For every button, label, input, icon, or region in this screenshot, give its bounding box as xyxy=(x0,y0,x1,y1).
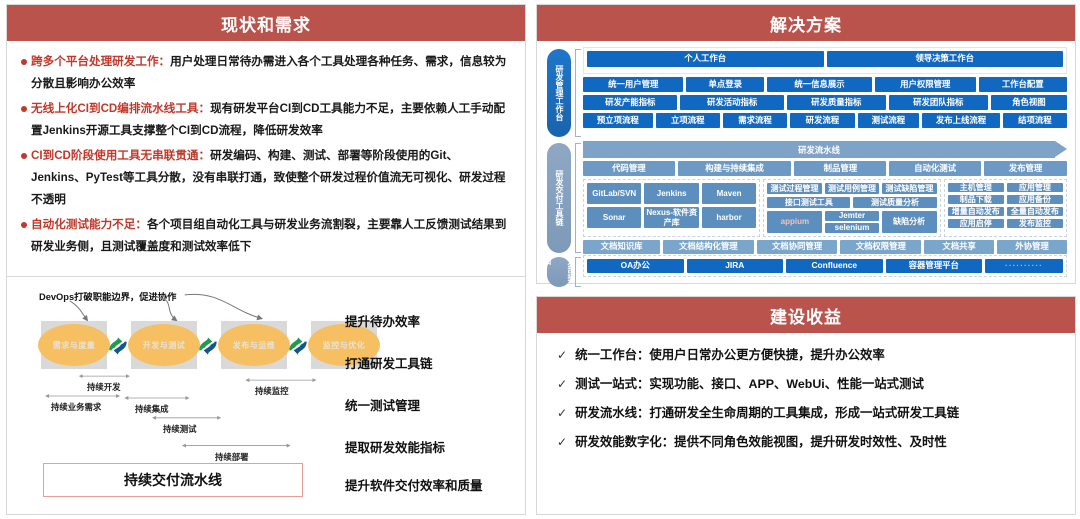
external-box: OA办公 JIRA Confluence 容器管理平台 ·········· xyxy=(583,255,1067,277)
span-label: 持续测试 xyxy=(163,423,197,435)
benefit-label: 提取研发效能指标 xyxy=(345,437,445,456)
workbench-top-box: 个人工作台 领导决策工作台 xyxy=(583,47,1067,74)
bullet-highlight: 无线上化CI到CD编排流水线工具： xyxy=(31,102,210,115)
cell-release-flow[interactable]: 发布上线流程 xyxy=(922,113,999,128)
list-item: CI到CD阶段使用工具无串联贯通：研发编码、构建、测试、部署等阶段使用的Git、… xyxy=(21,145,511,211)
benefit-label: 打通研发工具链 xyxy=(345,353,433,372)
span-label: 持续监控 xyxy=(255,385,289,397)
devops-stage: 需求与度量 xyxy=(41,321,107,369)
tool-test-process-mgmt[interactable]: 测试过程管理 xyxy=(767,183,821,194)
cell-unified-user-mgmt[interactable]: 统一用户管理 xyxy=(583,77,683,92)
cell-rd-flow[interactable]: 研发流程 xyxy=(790,113,854,128)
list-item: ✓ 统一工作台：使用户日常办公更方便快捷，提升办公效率 xyxy=(553,347,1059,363)
cell-doc-perm[interactable]: 文档权限管理 xyxy=(840,240,921,254)
tool-artifact-download[interactable]: 制品下载 xyxy=(948,195,1004,204)
cell-closing-flow[interactable]: 结项流程 xyxy=(1003,113,1067,128)
benefit-label: 统一测试管理 xyxy=(345,395,420,414)
tool-incremental-release[interactable]: 增量自动发布 xyxy=(948,207,1004,216)
table-row: 预立项流程 立项流程 需求流程 研发流程 测试流程 发布上线流程 结项流程 xyxy=(583,113,1067,128)
vtab-delivery-toolchain[interactable]: 研发交付工具链 xyxy=(547,143,571,253)
cell-release-mgmt[interactable]: 发布管理 xyxy=(984,161,1067,176)
benefit-label: 提升软件交付效率和质量 xyxy=(345,475,483,494)
bullet-dot-icon xyxy=(21,59,27,65)
list-item: 跨多个平台处理研发工作：用户处理日常待办需进入各个工具处理各种任务、需求，信息较… xyxy=(21,51,511,95)
table-row: 应用启停 发布监控 xyxy=(948,219,1063,228)
table-row: GitLab/SVN Jenkins Maven xyxy=(587,183,756,204)
cell-team-metric[interactable]: 研发团队指标 xyxy=(889,95,988,110)
bullet-text: CI到CD阶段使用工具无串联贯通：研发编码、构建、测试、部署等阶段使用的Git、… xyxy=(31,145,511,211)
cell-jira[interactable]: JIRA xyxy=(687,259,784,273)
cell-doc-collab[interactable]: 文档协同管理 xyxy=(757,240,838,254)
table-row: 代码管理 构建与持续集成 制品管理 自动化测试 发布管理 xyxy=(583,161,1067,176)
tool-zone-deploy: 主机管理 应用管理 制品下载 应用备份 增量自动发布 全量自动发布 xyxy=(944,179,1067,237)
list-item: 无线上化CI到CD编排流水线工具：现有研发平台CI到CD工具能力不足，主要依赖人… xyxy=(21,98,511,142)
cell-oa[interactable]: OA办公 xyxy=(587,259,684,273)
tool-full-release[interactable]: 全量自动发布 xyxy=(1007,207,1063,216)
span-label: 持续集成 xyxy=(135,403,169,415)
tool-zone-test: 测试过程管理 测试用例管理 测试缺陷管理 接口测试工具 测试质量分析 appiu… xyxy=(763,179,940,237)
tool-selenium[interactable]: selenium xyxy=(825,223,878,233)
cell-requirement-flow[interactable]: 需求流程 xyxy=(723,113,787,128)
bracket xyxy=(575,257,581,287)
table-row: 个人工作台 领导决策工作台 xyxy=(587,51,1063,67)
tool-maven[interactable]: Maven xyxy=(702,183,756,204)
tool-jmeter[interactable]: Jemter xyxy=(825,211,878,221)
table-row: 接口测试工具 测试质量分析 xyxy=(767,197,936,208)
cell-pre-project-flow[interactable]: 预立项流程 xyxy=(583,113,653,128)
cell-test-flow[interactable]: 测试流程 xyxy=(858,113,920,128)
benefit-item-text: 统一工作台：使用户日常办公更方便快捷，提升办公效率 xyxy=(575,347,885,363)
cell-outsource-mgmt[interactable]: 外协管理 xyxy=(997,240,1067,254)
current-state-title: 现状和需求 xyxy=(7,5,525,41)
check-icon: ✓ xyxy=(557,348,567,362)
bullet-dot-icon xyxy=(21,222,27,228)
tool-app-startstop[interactable]: 应用启停 xyxy=(948,219,1004,228)
solution-title: 解决方案 xyxy=(537,5,1075,41)
sync-icon xyxy=(105,333,131,359)
tool-app-backup[interactable]: 应用备份 xyxy=(1007,195,1063,204)
bullet-text: 自动化测试能力不足：各个项目组自动化工具与研发业务流割裂，主要靠人工反馈测试结果… xyxy=(31,214,511,258)
cell-more[interactable]: ·········· xyxy=(985,259,1063,273)
vtab-external-interface[interactable]: 外部接口 xyxy=(547,257,571,287)
cell-leader-workbench[interactable]: 领导决策工作台 xyxy=(827,51,1064,67)
check-icon: ✓ xyxy=(557,435,567,449)
cell-doc-share[interactable]: 文档共享 xyxy=(924,240,994,254)
table-row: 统一用户管理 单点登录 统一信息展示 用户权限管理 工作台配置 xyxy=(583,77,1067,92)
benefits-body: ✓ 统一工作台：使用户日常办公更方便快捷，提升办公效率 ✓ 测试一站式：实现功能… xyxy=(537,333,1075,478)
list-item: ✓ 研发流水线：打通研发全生命周期的工具集成，形成一站式研发工具链 xyxy=(553,405,1059,421)
tool-group-jmeter-selenium: Jemter selenium xyxy=(825,211,878,233)
solution-vertical-tabs: 研发管理工作台 研发交付工具链 外部接口 xyxy=(545,47,575,277)
tool-jenkins[interactable]: Jenkins xyxy=(644,183,698,204)
cell-unified-info[interactable]: 统一信息展示 xyxy=(767,77,872,92)
table-row: Sonar Nexus-软件资产库 harbor xyxy=(587,207,756,228)
check-icon: ✓ xyxy=(557,406,567,420)
table-row: 测试过程管理 测试用例管理 测试缺陷管理 xyxy=(767,183,936,194)
cell-project-flow[interactable]: 立项流程 xyxy=(656,113,720,128)
bullet-text: 跨多个平台处理研发工作：用户处理日常待办需进入各个工具处理各种任务、需求，信息较… xyxy=(31,51,511,95)
bullet-highlight: CI到CD阶段使用工具无串联贯通： xyxy=(31,149,210,162)
cell-personal-workbench[interactable]: 个人工作台 xyxy=(587,51,824,67)
list-item: 自动化测试能力不足：各个项目组自动化工具与研发业务流割裂，主要靠人工反馈测试结果… xyxy=(21,214,511,258)
tool-test-defect-mgmt[interactable]: 测试缺陷管理 xyxy=(882,183,936,194)
vtab-rd-workbench[interactable]: 研发管理工作台 xyxy=(547,49,571,137)
devops-diagram: DevOps打破职能边界，促进协作 需求与度量 开发与测试 发布与运维 xyxy=(6,276,526,515)
toolchain-group: 研发流水线 代码管理 构建与持续集成 制品管理 自动化测试 发布管理 xyxy=(583,141,1067,257)
benefit-label: 提升待办效率 xyxy=(345,311,420,330)
slide-root: 现状和需求 跨多个平台处理研发工作：用户处理日常待办需进入各个工具处理各种任务、… xyxy=(0,0,1080,519)
cell-artifact-mgmt[interactable]: 制品管理 xyxy=(794,161,886,176)
tool-gitlab-svn[interactable]: GitLab/SVN xyxy=(587,183,641,204)
cell-role-view[interactable]: 角色视图 xyxy=(991,95,1067,110)
cell-doc-structure[interactable]: 文档结构化管理 xyxy=(663,240,753,254)
benefit-item-text: 研发效能数字化：提供不同角色效能视图，提升研发时效性、及时性 xyxy=(575,434,947,450)
tool-nexus[interactable]: Nexus-软件资产库 xyxy=(644,207,698,228)
bullet-highlight: 跨多个平台处理研发工作： xyxy=(31,55,170,68)
tool-release-monitor[interactable]: 发布监控 xyxy=(1007,219,1063,228)
tool-api-test[interactable]: 接口测试工具 xyxy=(767,197,850,208)
cell-workbench-config[interactable]: 工作台配置 xyxy=(979,77,1068,92)
tool-appium[interactable]: appium xyxy=(767,211,822,233)
cell-code-mgmt[interactable]: 代码管理 xyxy=(583,161,675,176)
table-row: appium Jemter selenium 缺陷分析 xyxy=(767,211,936,233)
span-label: 持续开发 xyxy=(87,381,121,393)
benefits-panel: 建设收益 ✓ 统一工作台：使用户日常办公更方便快捷，提升办公效率 ✓ 测试一站式… xyxy=(536,296,1076,515)
bullet-dot-icon xyxy=(21,153,27,159)
benefit-item-text: 研发流水线：打通研发全生命周期的工具集成，形成一站式研发工具链 xyxy=(575,405,959,421)
span-label: 持续部署 xyxy=(215,451,249,463)
list-item: ✓ 研发效能数字化：提供不同角色效能视图，提升研发时效性、及时性 xyxy=(553,434,1059,450)
cell-confluence[interactable]: Confluence xyxy=(786,259,883,273)
tool-host-mgmt[interactable]: 主机管理 xyxy=(948,183,1004,192)
solution-body: 研发管理工作台 研发交付工具链 外部接口 个人工作台 xyxy=(537,41,1075,283)
workbench-group: 个人工作台 领导决策工作台 统一用户管理 单点登录 统一信息展示 用户权限管理 … xyxy=(583,47,1067,131)
bullet-text: 无线上化CI到CD编排流水线工具：现有研发平台CI到CD工具能力不足，主要依赖人… xyxy=(31,98,511,142)
sync-icon xyxy=(285,333,311,359)
list-item: ✓ 测试一站式：实现功能、接口、APP、WebUi、性能一站式测试 xyxy=(553,376,1059,392)
sync-icon xyxy=(195,333,221,359)
cell-auto-test[interactable]: 自动化测试 xyxy=(889,161,981,176)
devops-stage-label: 开发与测试 xyxy=(128,324,200,366)
table-row: 制品下载 应用备份 xyxy=(948,195,1063,204)
table-row: OA办公 JIRA Confluence 容器管理平台 ·········· xyxy=(587,259,1063,273)
tool-harbor[interactable]: harbor xyxy=(702,207,756,228)
tool-test-quality-analysis[interactable]: 测试质量分析 xyxy=(853,197,936,208)
check-icon: ✓ xyxy=(557,377,567,391)
devops-stage-label: 需求与度量 xyxy=(38,324,110,366)
tool-test-case-mgmt[interactable]: 测试用例管理 xyxy=(825,183,879,194)
cell-quality-metric[interactable]: 研发质量指标 xyxy=(787,95,886,110)
tool-defect-analysis[interactable]: 缺陷分析 xyxy=(882,211,937,233)
tool-app-mgmt[interactable]: 应用管理 xyxy=(1007,183,1063,192)
tool-zones: GitLab/SVN Jenkins Maven Sonar Nexus-软件资… xyxy=(583,179,1067,237)
current-state-body: 跨多个平台处理研发工作：用户处理日常待办需进入各个工具处理各种任务、需求，信息较… xyxy=(7,41,525,258)
benefits-title: 建设收益 xyxy=(537,297,1075,333)
cell-activity-metric[interactable]: 研发活动指标 xyxy=(680,95,783,110)
cell-build-ci[interactable]: 构建与持续集成 xyxy=(678,161,792,176)
tool-zone-code: GitLab/SVN Jenkins Maven Sonar Nexus-软件资… xyxy=(583,179,760,237)
solution-brackets xyxy=(575,47,583,277)
cell-doc-kb[interactable]: 文档知识库 xyxy=(583,240,660,254)
external-group: OA办公 JIRA Confluence 容器管理平台 ·········· xyxy=(583,255,1067,280)
devops-stage: 发布与运维 xyxy=(221,321,287,369)
bracket xyxy=(575,49,581,137)
cell-container-platform[interactable]: 容器管理平台 xyxy=(886,259,983,273)
table-row: 文档知识库 文档结构化管理 文档协同管理 文档权限管理 文档共享 外协管理 xyxy=(583,240,1067,254)
cell-sso[interactable]: 单点登录 xyxy=(686,77,764,92)
pipeline-callout: 持续交付流水线 xyxy=(43,463,303,497)
rd-pipeline-arrow: 研发流水线 xyxy=(583,141,1055,158)
table-row: 研发产能指标 研发活动指标 研发质量指标 研发团队指标 角色视图 xyxy=(583,95,1067,110)
table-row: 主机管理 应用管理 xyxy=(948,183,1063,192)
devops-stage: 开发与测试 xyxy=(131,321,197,369)
devops-stage-label: 发布与运维 xyxy=(218,324,290,366)
cell-capacity-metric[interactable]: 研发产能指标 xyxy=(583,95,677,110)
bullet-highlight: 自动化测试能力不足： xyxy=(31,218,147,231)
devops-note: DevOps打破职能边界，促进协作 xyxy=(39,289,176,303)
tool-sonar[interactable]: Sonar xyxy=(587,207,641,228)
benefit-item-text: 测试一站式：实现功能、接口、APP、WebUi、性能一站式测试 xyxy=(575,376,924,392)
bullet-dot-icon xyxy=(21,106,27,112)
span-label: 持续业务需求 xyxy=(51,401,101,413)
table-row: 增量自动发布 全量自动发布 xyxy=(948,207,1063,216)
solution-content: 个人工作台 领导决策工作台 统一用户管理 单点登录 统一信息展示 用户权限管理 … xyxy=(583,47,1067,277)
bracket xyxy=(575,143,581,253)
cell-user-perm-mgmt[interactable]: 用户权限管理 xyxy=(875,77,975,92)
solution-panel: 解决方案 研发管理工作台 研发交付工具链 外部接口 xyxy=(536,4,1076,284)
